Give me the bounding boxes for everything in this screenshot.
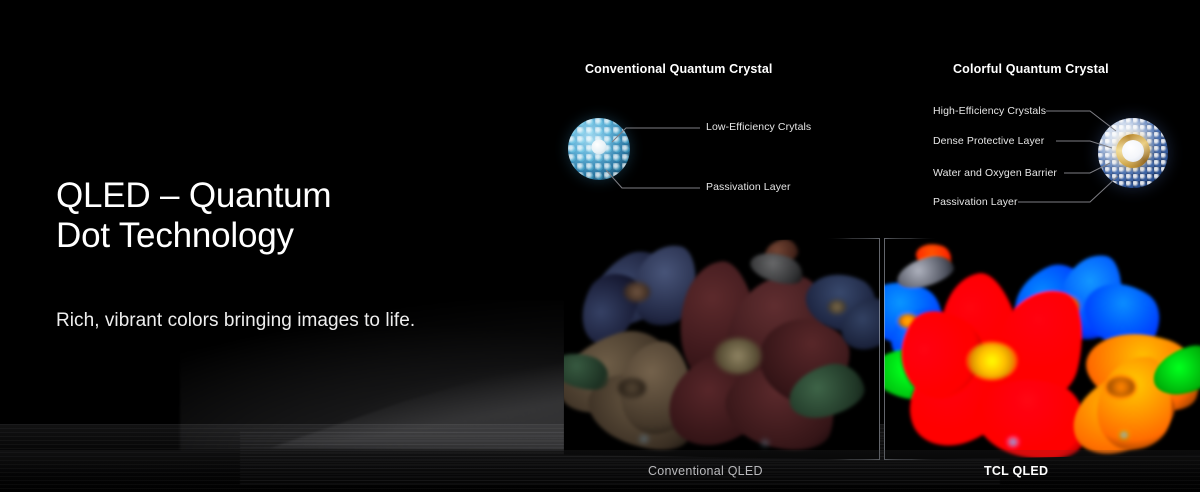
tv-panel-conventional — [562, 238, 880, 460]
label-high-efficiency-crystals: High-Efficiency Crystals — [933, 105, 1046, 117]
label-dense-protective-layer: Dense Protective Layer — [933, 135, 1044, 147]
tv-panel-tcl — [884, 238, 1200, 460]
label-passivation-layer-colorful: Passivation Layer — [933, 196, 1018, 208]
caption-conventional-qled: Conventional QLED — [648, 464, 763, 478]
caption-tcl-qled: TCL QLED — [984, 464, 1048, 478]
label-water-oxygen-barrier: Water and Oxygen Barrier — [933, 167, 1057, 179]
tv-screen-tcl — [884, 238, 1200, 460]
tv-screen-conventional — [562, 238, 880, 460]
bird-figure — [748, 238, 818, 292]
